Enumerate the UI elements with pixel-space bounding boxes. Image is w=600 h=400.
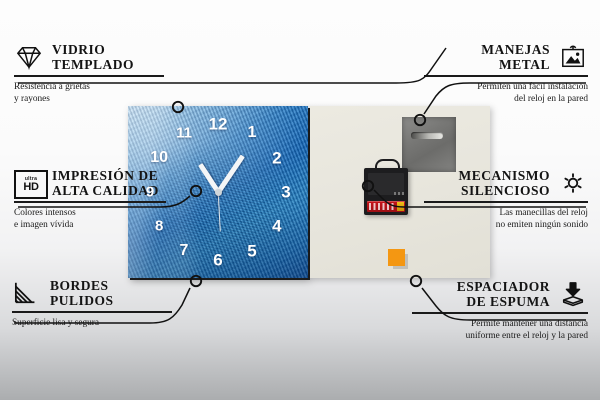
desc-line-2: uniforme entre el reloj y la pared bbox=[466, 331, 588, 341]
clock-numeral-5: 5 bbox=[247, 242, 256, 259]
feature-rule bbox=[12, 311, 172, 312]
clock-numeral-8: 8 bbox=[155, 219, 163, 234]
quartz-movement bbox=[364, 168, 408, 215]
feature-title: MECANISMO SILENCIOSO bbox=[459, 168, 551, 198]
ultra-hd-box: ultra HD bbox=[14, 170, 48, 199]
desc-line-2: y rayones bbox=[14, 94, 50, 104]
clock-numeral-2: 2 bbox=[272, 150, 281, 167]
title-line-2: ALTA CALIDAD bbox=[52, 183, 159, 198]
clock-numeral-9: 9 bbox=[146, 185, 154, 200]
title-line-2: TEMPLADO bbox=[52, 57, 134, 72]
title-line-2: PULIDOS bbox=[50, 293, 114, 308]
feature-title: BORDES PULIDOS bbox=[50, 278, 114, 308]
feature-description: Superficie lisa y segura bbox=[12, 317, 172, 329]
feature-header: ultra HD IMPRESIÓN DE ALTA CALIDAD bbox=[14, 168, 166, 198]
title-line-1: BORDES bbox=[50, 278, 109, 293]
clock-numeral-3: 3 bbox=[281, 184, 290, 201]
battery-terminal bbox=[397, 202, 404, 211]
title-line-2: SILENCIOSO bbox=[461, 183, 550, 198]
title-line-1: MECANISMO bbox=[459, 168, 551, 183]
foam-spacer-icon bbox=[558, 281, 588, 307]
feature-impresion-alta-calidad: ultra HD IMPRESIÓN DE ALTA CALIDAD Color… bbox=[14, 168, 166, 231]
feature-title: VIDRIO TEMPLADO bbox=[52, 42, 134, 72]
title-line-2: DE ESPUMA bbox=[466, 294, 550, 309]
feature-espaciador-espuma: ESPACIADOR DE ESPUMA Permite mantener un… bbox=[412, 279, 588, 342]
desc-line-1: Superficie lisa y segura bbox=[12, 318, 99, 328]
feature-header: MANEJAS METAL bbox=[424, 42, 588, 72]
feature-vidrio-templado: VIDRIO TEMPLADO Resistencia a grietas y … bbox=[14, 42, 164, 105]
infographic-canvas: 121234567891011 bbox=[0, 0, 600, 400]
gear-icon bbox=[558, 170, 588, 196]
desc-line-1: Resistencia a grietas bbox=[14, 82, 90, 92]
hd-label: HD bbox=[23, 182, 38, 193]
feature-header: VIDRIO TEMPLADO bbox=[14, 42, 164, 72]
title-line-2: METAL bbox=[499, 57, 550, 72]
diamond-icon bbox=[14, 44, 44, 70]
clock-numeral-7: 7 bbox=[180, 243, 189, 259]
clock-numeral-4: 4 bbox=[272, 218, 281, 235]
desc-line-1: Permite mantener una distancia bbox=[471, 319, 588, 329]
title-line-1: ESPACIADOR bbox=[457, 279, 550, 294]
desc-line-1: Permiten una fácil instalación bbox=[477, 82, 588, 92]
wall-frame-icon bbox=[558, 44, 588, 70]
second-hand bbox=[217, 192, 220, 232]
movement-detail bbox=[394, 192, 404, 195]
feature-description: Colores intensos e imagen vívida bbox=[14, 207, 166, 231]
feature-rule bbox=[424, 75, 588, 76]
foam-spacer bbox=[388, 249, 405, 266]
feature-manejas-metal: MANEJAS METAL Permiten una fácil instala… bbox=[424, 42, 588, 105]
feature-header: BORDES PULIDOS bbox=[12, 278, 172, 308]
hand-cap bbox=[215, 189, 222, 196]
feature-rule bbox=[412, 312, 588, 313]
feature-title: IMPRESIÓN DE ALTA CALIDAD bbox=[52, 168, 159, 198]
clock-numeral-11: 11 bbox=[176, 126, 192, 141]
desc-line-1: Las manecillas del reloj bbox=[499, 208, 588, 218]
desc-line-2: no emiten ningún sonido bbox=[496, 220, 588, 230]
feature-rule bbox=[14, 201, 166, 202]
feature-description: Permiten una fácil instalación del reloj… bbox=[424, 81, 588, 105]
feature-title: ESPACIADOR DE ESPUMA bbox=[457, 279, 550, 309]
feature-header: MECANISMO SILENCIOSO bbox=[424, 168, 588, 198]
desc-line-2: del reloj en la pared bbox=[514, 94, 588, 104]
battery bbox=[367, 201, 405, 212]
clock-numeral-12: 12 bbox=[209, 116, 228, 133]
feature-mecanismo-silencioso: MECANISMO SILENCIOSO Las manecillas del … bbox=[424, 168, 588, 231]
feature-rule bbox=[14, 75, 164, 76]
feature-bordes-pulidos: BORDES PULIDOS Superficie lisa y segura bbox=[12, 278, 172, 329]
metal-hanger-plate bbox=[402, 117, 456, 172]
desc-line-1: Colores intensos bbox=[14, 208, 76, 218]
feature-header: ESPACIADOR DE ESPUMA bbox=[412, 279, 588, 309]
ultra-hd-icon: ultra HD bbox=[14, 170, 44, 196]
desc-line-2: e imagen vívida bbox=[14, 220, 73, 230]
clock-numeral-6: 6 bbox=[213, 252, 222, 269]
title-line-1: IMPRESIÓN DE bbox=[52, 168, 158, 183]
feature-title: MANEJAS METAL bbox=[481, 42, 550, 72]
hanger-keyhole-slot bbox=[411, 132, 443, 139]
minute-hand bbox=[216, 154, 244, 193]
title-line-1: MANEJAS bbox=[481, 42, 550, 57]
movement-hanger-loop bbox=[375, 159, 400, 172]
title-line-1: VIDRIO bbox=[52, 42, 105, 57]
feature-rule bbox=[424, 201, 588, 202]
feature-description: Permite mantener una distancia uniforme … bbox=[412, 318, 588, 342]
feature-description: Las manecillas del reloj no emiten ningú… bbox=[424, 207, 588, 231]
clock-numeral-1: 1 bbox=[248, 125, 257, 141]
polished-edge-icon bbox=[12, 280, 42, 306]
clock-numeral-10: 10 bbox=[150, 150, 168, 166]
feature-description: Resistencia a grietas y rayones bbox=[14, 81, 164, 105]
battery-label bbox=[369, 203, 396, 210]
